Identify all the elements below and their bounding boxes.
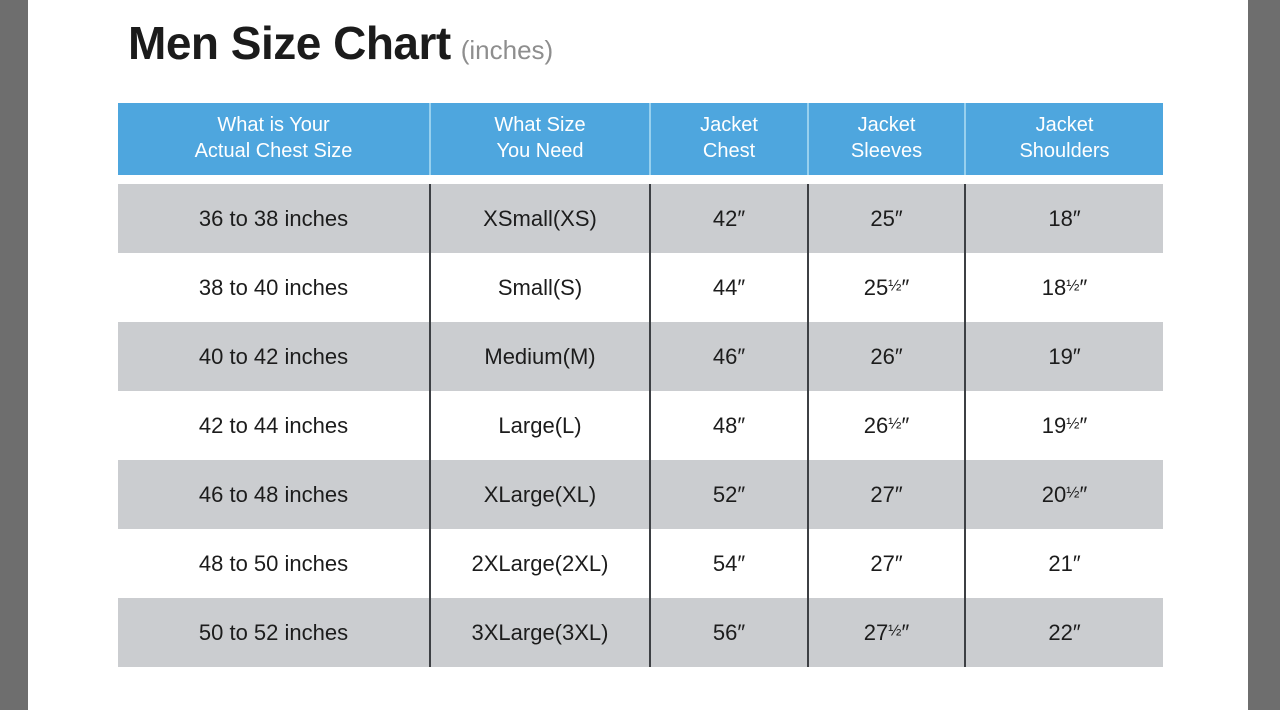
table-row: 42 to 44 inchesLarge(L)48″26½″19½″ xyxy=(118,391,1163,460)
column-header-line1: Jacket xyxy=(655,113,803,139)
table-cell-r1-c2: 44″ xyxy=(650,253,808,322)
table-cell-r3-c3: 26½″ xyxy=(808,391,965,460)
column-header-line2: Sleeves xyxy=(813,139,960,165)
table-cell-r3-c4: 19½″ xyxy=(965,391,1163,460)
table-cell-r4-c2: 52″ xyxy=(650,460,808,529)
table-cell-r1-c1: Small(S) xyxy=(430,253,650,322)
table-cell-r4-c3: 27″ xyxy=(808,460,965,529)
table-cell-r5-c2: 54″ xyxy=(650,529,808,598)
table-cell-r5-c4: 21″ xyxy=(965,529,1163,598)
table-cell-r3-c2: 48″ xyxy=(650,391,808,460)
column-header-line2: Actual Chest Size xyxy=(122,139,425,165)
table-cell-r2-c0: 40 to 42 inches xyxy=(118,322,430,391)
table-cell-r5-c0: 48 to 50 inches xyxy=(118,529,430,598)
table-cell-r1-c0: 38 to 40 inches xyxy=(118,253,430,322)
table-header-row: What is YourActual Chest SizeWhat SizeYo… xyxy=(118,103,1163,175)
table-cell-r5-c1: 2XLarge(2XL) xyxy=(430,529,650,598)
column-header-3: JacketSleeves xyxy=(808,103,965,175)
column-header-2: JacketChest xyxy=(650,103,808,175)
table-cell-r1-c4: 18½″ xyxy=(965,253,1163,322)
table-row: 38 to 40 inchesSmall(S)44″25½″18½″ xyxy=(118,253,1163,322)
table-cell-r6-c1: 3XLarge(3XL) xyxy=(430,598,650,667)
slide-stage: Men Size Chart (inches) What is YourActu… xyxy=(0,0,1280,710)
column-header-line1: What is Your xyxy=(122,113,425,139)
table-header-spacer xyxy=(118,175,1163,184)
table-row: 36 to 38 inchesXSmall(XS)42″25″18″ xyxy=(118,184,1163,253)
table-cell-r0-c4: 18″ xyxy=(965,184,1163,253)
table-row: 46 to 48 inchesXLarge(XL)52″27″20½″ xyxy=(118,460,1163,529)
table-cell-r6-c3: 27½″ xyxy=(808,598,965,667)
table-header: What is YourActual Chest SizeWhat SizeYo… xyxy=(118,103,1163,175)
table-row: 50 to 52 inches3XLarge(3XL)56″27½″22″ xyxy=(118,598,1163,667)
column-header-line1: Jacket xyxy=(813,113,960,139)
table-cell-r6-c0: 50 to 52 inches xyxy=(118,598,430,667)
table-cell-r4-c1: XLarge(XL) xyxy=(430,460,650,529)
page-title-units: (inches) xyxy=(461,37,553,63)
column-header-line2: You Need xyxy=(435,139,645,165)
column-header-line2: Shoulders xyxy=(970,139,1159,165)
slide-canvas: Men Size Chart (inches) What is YourActu… xyxy=(28,0,1248,710)
table-cell-r6-c2: 56″ xyxy=(650,598,808,667)
column-header-1: What SizeYou Need xyxy=(430,103,650,175)
table-cell-r0-c1: XSmall(XS) xyxy=(430,184,650,253)
spacer-cell xyxy=(118,175,1163,184)
column-header-line1: Jacket xyxy=(970,113,1159,139)
table-cell-r3-c0: 42 to 44 inches xyxy=(118,391,430,460)
table-body: 36 to 38 inchesXSmall(XS)42″25″18″38 to … xyxy=(118,175,1163,667)
column-header-line1: What Size xyxy=(435,113,645,139)
column-header-4: JacketShoulders xyxy=(965,103,1163,175)
column-header-0: What is YourActual Chest Size xyxy=(118,103,430,175)
table-row: 40 to 42 inchesMedium(M)46″26″19″ xyxy=(118,322,1163,391)
table-cell-r0-c0: 36 to 38 inches xyxy=(118,184,430,253)
size-chart-table: What is YourActual Chest SizeWhat SizeYo… xyxy=(118,103,1163,667)
table-cell-r3-c1: Large(L) xyxy=(430,391,650,460)
table-cell-r5-c3: 27″ xyxy=(808,529,965,598)
table-cell-r1-c3: 25½″ xyxy=(808,253,965,322)
page-title: Men Size Chart (inches) xyxy=(128,20,553,66)
column-header-line2: Chest xyxy=(655,139,803,165)
table-cell-r6-c4: 22″ xyxy=(965,598,1163,667)
letterbox-bar-left xyxy=(0,0,28,710)
page-title-main: Men Size Chart xyxy=(128,20,451,66)
table-row: 48 to 50 inches2XLarge(2XL)54″27″21″ xyxy=(118,529,1163,598)
table-cell-r0-c2: 42″ xyxy=(650,184,808,253)
table-cell-r4-c0: 46 to 48 inches xyxy=(118,460,430,529)
letterbox-bar-right xyxy=(1248,0,1280,710)
table-cell-r2-c1: Medium(M) xyxy=(430,322,650,391)
table-cell-r0-c3: 25″ xyxy=(808,184,965,253)
table-cell-r2-c3: 26″ xyxy=(808,322,965,391)
table-cell-r2-c4: 19″ xyxy=(965,322,1163,391)
table-cell-r2-c2: 46″ xyxy=(650,322,808,391)
table-cell-r4-c4: 20½″ xyxy=(965,460,1163,529)
